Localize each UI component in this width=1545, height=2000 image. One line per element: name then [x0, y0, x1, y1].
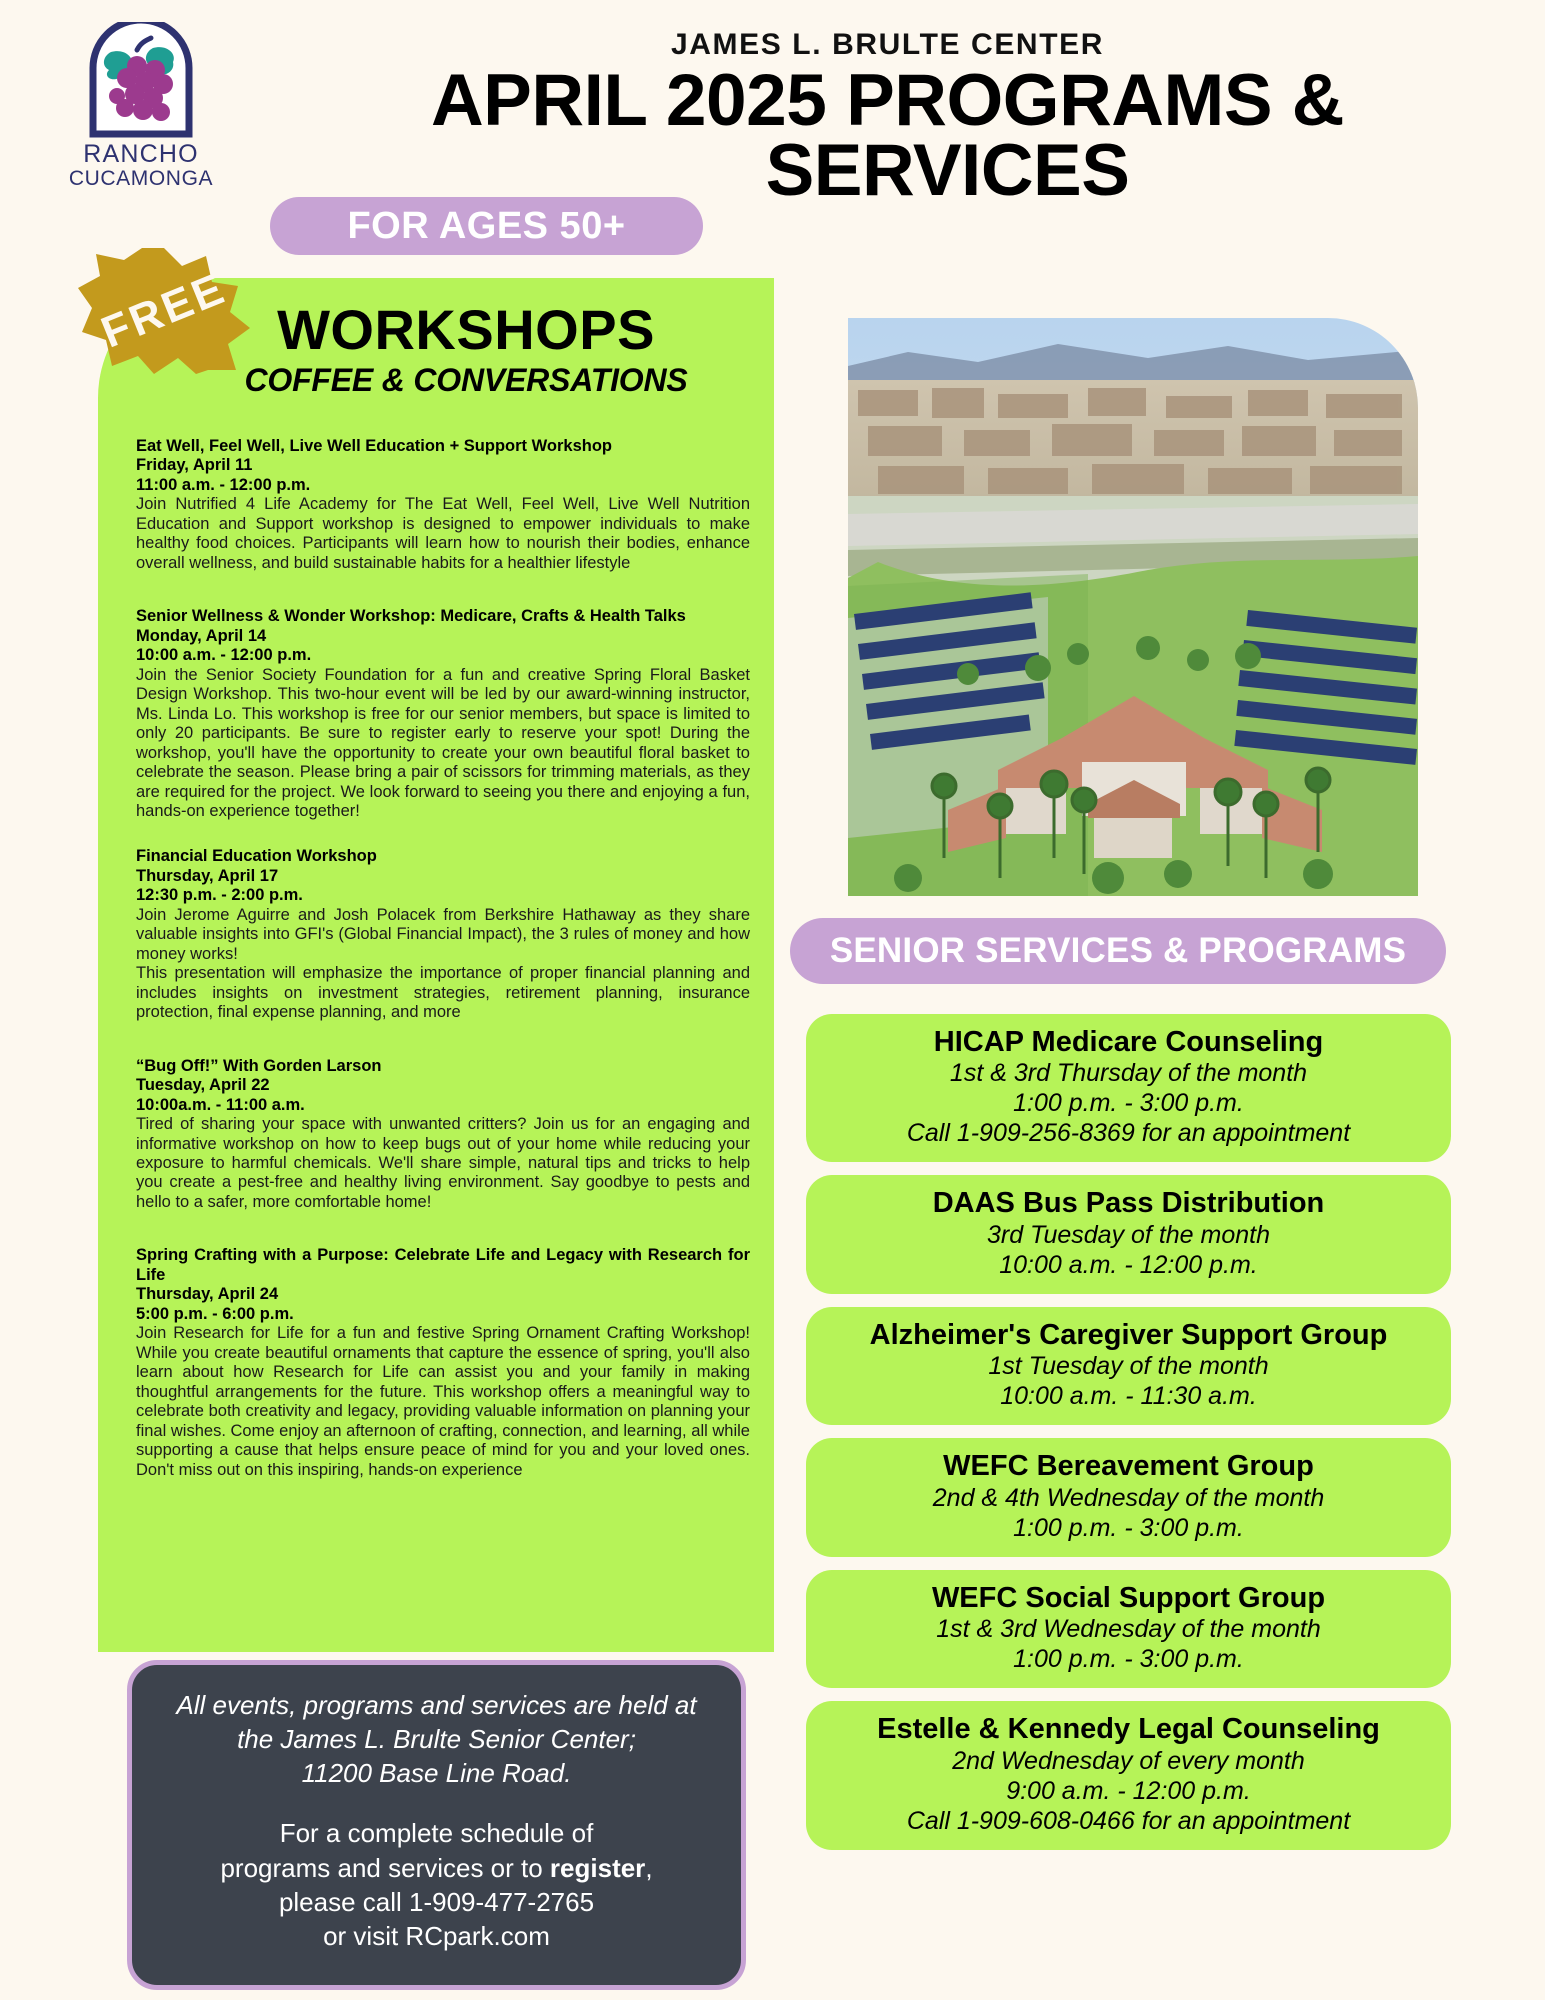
workshop-list: Eat Well, Feel Well, Live Well Education… [120, 437, 752, 1480]
workshop-day: Thursday, April 17 [136, 867, 750, 886]
workshop-description: Join the Senior Society Foundation for a… [136, 666, 750, 822]
workshop-name: Financial Education Workshop [136, 847, 750, 866]
note-phone: please call 1-909-477-2765 [168, 1885, 705, 1919]
service-card: DAAS Bus Pass Distribution 3rd Tuesday o… [806, 1175, 1451, 1293]
workshop-time: 10:00a.m. - 11:00 a.m. [136, 1096, 750, 1115]
workshop-item: Senior Wellness & Wonder Workshop: Medic… [136, 607, 750, 821]
service-card: HICAP Medicare Counseling 1st & 3rd Thur… [806, 1014, 1451, 1162]
service-detail: 2nd Wednesday of every month [820, 1746, 1437, 1776]
service-detail: Call 1-909-608-0466 for an appointment [820, 1806, 1437, 1836]
service-detail: 2nd & 4th Wednesday of the month [820, 1483, 1437, 1513]
service-title: DAAS Bus Pass Distribution [820, 1187, 1437, 1219]
note-line-4: For a complete schedule of [168, 1816, 705, 1850]
workshop-time: 5:00 p.m. - 6:00 p.m. [136, 1305, 750, 1324]
workshop-description: Join Jerome Aguirre and Josh Polacek fro… [136, 906, 750, 964]
workshop-description: Tired of sharing your space with unwante… [136, 1115, 750, 1212]
title-block: JAMES L. BRULTE CENTER APRIL 2025 PROGRA… [270, 28, 1505, 206]
note-website: or visit RCpark.com [168, 1919, 705, 1953]
services-card-list: HICAP Medicare Counseling 1st & 3rd Thur… [806, 1014, 1451, 1863]
page-title-line2: SERVICES [390, 136, 1505, 206]
ages-badge: FOR AGES 50+ [270, 197, 703, 255]
service-detail: 1:00 p.m. - 3:00 p.m. [820, 1644, 1437, 1674]
note-line-2: the James L. Brulte Senior Center; [168, 1723, 705, 1757]
workshop-item: “Bug Off!” With Gorden Larson Tuesday, A… [136, 1057, 750, 1213]
workshop-name: Eat Well, Feel Well, Live Well Education… [136, 437, 750, 456]
service-title: Alzheimer's Caregiver Support Group [820, 1319, 1437, 1351]
service-card: WEFC Social Support Group 1st & 3rd Wedn… [806, 1570, 1451, 1688]
workshop-description: Join Nutrified 4 Life Academy for The Ea… [136, 495, 750, 573]
workshop-day: Tuesday, April 22 [136, 1076, 750, 1095]
service-detail: 1st & 3rd Thursday of the month [820, 1058, 1437, 1088]
rancho-cucamonga-logo: RANCHO CUCAMONGA [66, 22, 216, 192]
note-register-line: programs and services or to register, [168, 1851, 705, 1885]
page-header: RANCHO CUCAMONGA JAMES L. BRULTE CENTER … [0, 0, 1545, 268]
service-detail: 1:00 p.m. - 3:00 p.m. [820, 1088, 1437, 1118]
note-line-3: 11200 Base Line Road. [168, 1757, 705, 1791]
page-title-line1: APRIL 2025 PROGRAMS & [431, 60, 1344, 141]
workshop-name: Senior Wellness & Wonder Workshop: Medic… [136, 607, 750, 626]
workshops-panel: WORKSHOPS COFFEE & CONVERSATIONS Eat Wel… [98, 278, 774, 1652]
service-detail: 1st & 3rd Wednesday of the month [820, 1614, 1437, 1644]
services-section-title: SENIOR SERVICES & PROGRAMS [790, 918, 1446, 984]
workshop-name: “Bug Off!” With Gorden Larson [136, 1057, 750, 1076]
workshop-item: Financial Education Workshop Thursday, A… [136, 847, 750, 1022]
note-line-1: All events, programs and services are he… [168, 1689, 705, 1723]
workshop-day: Monday, April 14 [136, 627, 750, 646]
center-aerial-photo [848, 318, 1418, 896]
service-detail: Call 1-909-256-8369 for an appointment [820, 1118, 1437, 1148]
service-detail: 10:00 a.m. - 11:30 a.m. [820, 1381, 1437, 1411]
note-line-5a: programs and services or to [220, 1853, 549, 1883]
page-title: APRIL 2025 PROGRAMS & SERVICES [270, 66, 1505, 206]
workshop-item: Eat Well, Feel Well, Live Well Education… [136, 437, 750, 573]
aerial-campus-image [848, 318, 1418, 896]
service-detail: 10:00 a.m. - 12:00 p.m. [820, 1250, 1437, 1280]
workshop-name: Spring Crafting with a Purpose: Celebrat… [136, 1246, 750, 1285]
workshop-description-2: This presentation will emphasize the imp… [136, 964, 750, 1022]
service-detail: 1st Tuesday of the month [820, 1351, 1437, 1381]
service-title: HICAP Medicare Counseling [820, 1026, 1437, 1058]
service-card: WEFC Bereavement Group 2nd & 4th Wednesd… [806, 1438, 1451, 1556]
logo-text-cucamonga: CUCAMONGA [66, 167, 216, 190]
note-line-5c: , [645, 1853, 652, 1883]
service-title: WEFC Social Support Group [820, 1582, 1437, 1614]
center-name: JAMES L. BRULTE CENTER [270, 28, 1505, 62]
logo-text-rancho: RANCHO [66, 142, 216, 167]
service-title: WEFC Bereavement Group [820, 1450, 1437, 1482]
workshop-day: Friday, April 11 [136, 456, 750, 475]
service-detail: 1:00 p.m. - 3:00 p.m. [820, 1513, 1437, 1543]
grapes-arch-logo-icon [81, 22, 201, 140]
service-card: Estelle & Kennedy Legal Counseling 2nd W… [806, 1701, 1451, 1849]
note-register-word: register [550, 1853, 645, 1883]
workshop-time: 11:00 a.m. - 12:00 p.m. [136, 476, 750, 495]
free-badge: FREE [78, 246, 250, 376]
workshop-day: Thursday, April 24 [136, 1285, 750, 1304]
workshop-time: 12:30 p.m. - 2:00 p.m. [136, 886, 750, 905]
service-card: Alzheimer's Caregiver Support Group 1st … [806, 1307, 1451, 1425]
service-detail: 9:00 a.m. - 12:00 p.m. [820, 1776, 1437, 1806]
service-title: Estelle & Kennedy Legal Counseling [820, 1713, 1437, 1745]
location-info-box: All events, programs and services are he… [127, 1660, 746, 1990]
service-detail: 3rd Tuesday of the month [820, 1220, 1437, 1250]
workshop-item: Spring Crafting with a Purpose: Celebrat… [136, 1246, 750, 1480]
workshop-time: 10:00 a.m. - 12:00 p.m. [136, 646, 750, 665]
workshop-description: Join Research for Life for a fun and fes… [136, 1324, 750, 1480]
